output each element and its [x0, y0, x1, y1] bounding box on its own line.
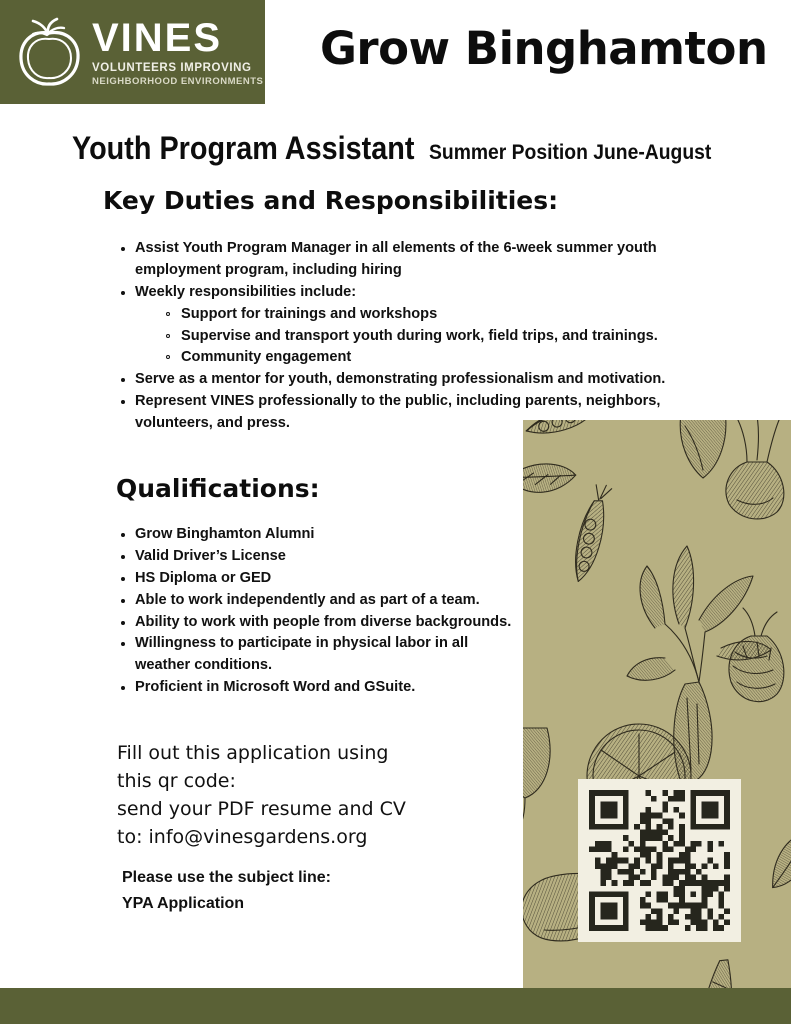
logo-text-group: VINES VOLUNTEERS IMPROVING NEIGHBORHOOD …: [92, 18, 263, 87]
duties-list-item-label: Assist Youth Program Manager in all elem…: [135, 240, 657, 278]
qualifications-list-item: Ability to work with people from diverse…: [114, 612, 514, 634]
apply-instruction-line: send your PDF resume and CV: [117, 796, 517, 824]
job-term: Summer Position June-August: [429, 141, 711, 165]
flyer-page: VINES VOLUNTEERS IMPROVING NEIGHBORHOOD …: [0, 0, 791, 1024]
qualifications-list-item: Proficient in Microsoft Word and GSuite.: [114, 677, 514, 699]
qualifications-list-item: Grow Binghamton Alumni: [114, 524, 514, 546]
logo-subtitle-line2: NEIGHBORHOOD ENVIRONMENTS: [92, 77, 263, 87]
qr-code-matrix: [578, 779, 741, 942]
logo-subtitle-line1: VOLUNTEERS IMPROVING: [92, 63, 263, 75]
tomato-icon: [14, 15, 84, 89]
qualifications-heading: Qualifications:: [116, 474, 320, 503]
duties-list-item: Serve as a mentor for youth, demonstrati…: [114, 369, 714, 391]
qualifications-list: Grow Binghamton AlumniValid Driver’s Lic…: [114, 524, 514, 699]
qualifications-list-item: HS Diploma or GED: [114, 568, 514, 590]
duties-list-item-label: Serve as a mentor for youth, demonstrati…: [135, 371, 665, 387]
duties-sub-list-item: Supervise and transport youth during wor…: [160, 326, 714, 348]
footer-bar: [0, 988, 791, 1024]
duties-list-item: Weekly responsibilities include:Support …: [114, 282, 714, 370]
job-title: Youth Program Assistant: [72, 130, 414, 167]
logo-name: VINES: [92, 18, 263, 58]
apply-instruction-line: Fill out this application using: [117, 740, 517, 768]
subject-line-instructions: Please use the subject line:YPA Applicat…: [122, 865, 522, 918]
duties-heading: Key Duties and Responsibilities:: [103, 186, 558, 215]
apply-instruction-line: this qr code:: [117, 768, 517, 796]
subject-line-text: Please use the subject line:: [122, 865, 522, 891]
qualifications-list-item: Able to work independently and as part o…: [114, 590, 514, 612]
qr-code[interactable]: [578, 779, 741, 942]
qualifications-list-item: Willingness to participate in physical l…: [114, 633, 514, 677]
logo-block: VINES VOLUNTEERS IMPROVING NEIGHBORHOOD …: [0, 0, 265, 104]
duties-list-item: Assist Youth Program Manager in all elem…: [114, 238, 714, 282]
position-row: Youth Program Assistant Summer Position …: [72, 130, 735, 167]
page-title: Grow Binghamton: [320, 22, 768, 75]
qualifications-list-item: Valid Driver’s License: [114, 546, 514, 568]
duties-sub-list: Support for trainings and workshopsSuper…: [135, 304, 714, 370]
duties-list: Assist Youth Program Manager in all elem…: [114, 238, 714, 435]
duties-list-item-label: Weekly responsibilities include:: [135, 284, 356, 300]
duties-sub-list-item: Community engagement: [160, 347, 714, 369]
duties-sub-list-item: Support for trainings and workshops: [160, 304, 714, 326]
apply-instruction-line: to: info@vinesgardens.org: [117, 824, 517, 852]
apply-instructions: Fill out this application usingthis qr c…: [117, 740, 517, 852]
subject-line-text: YPA Application: [122, 891, 522, 917]
